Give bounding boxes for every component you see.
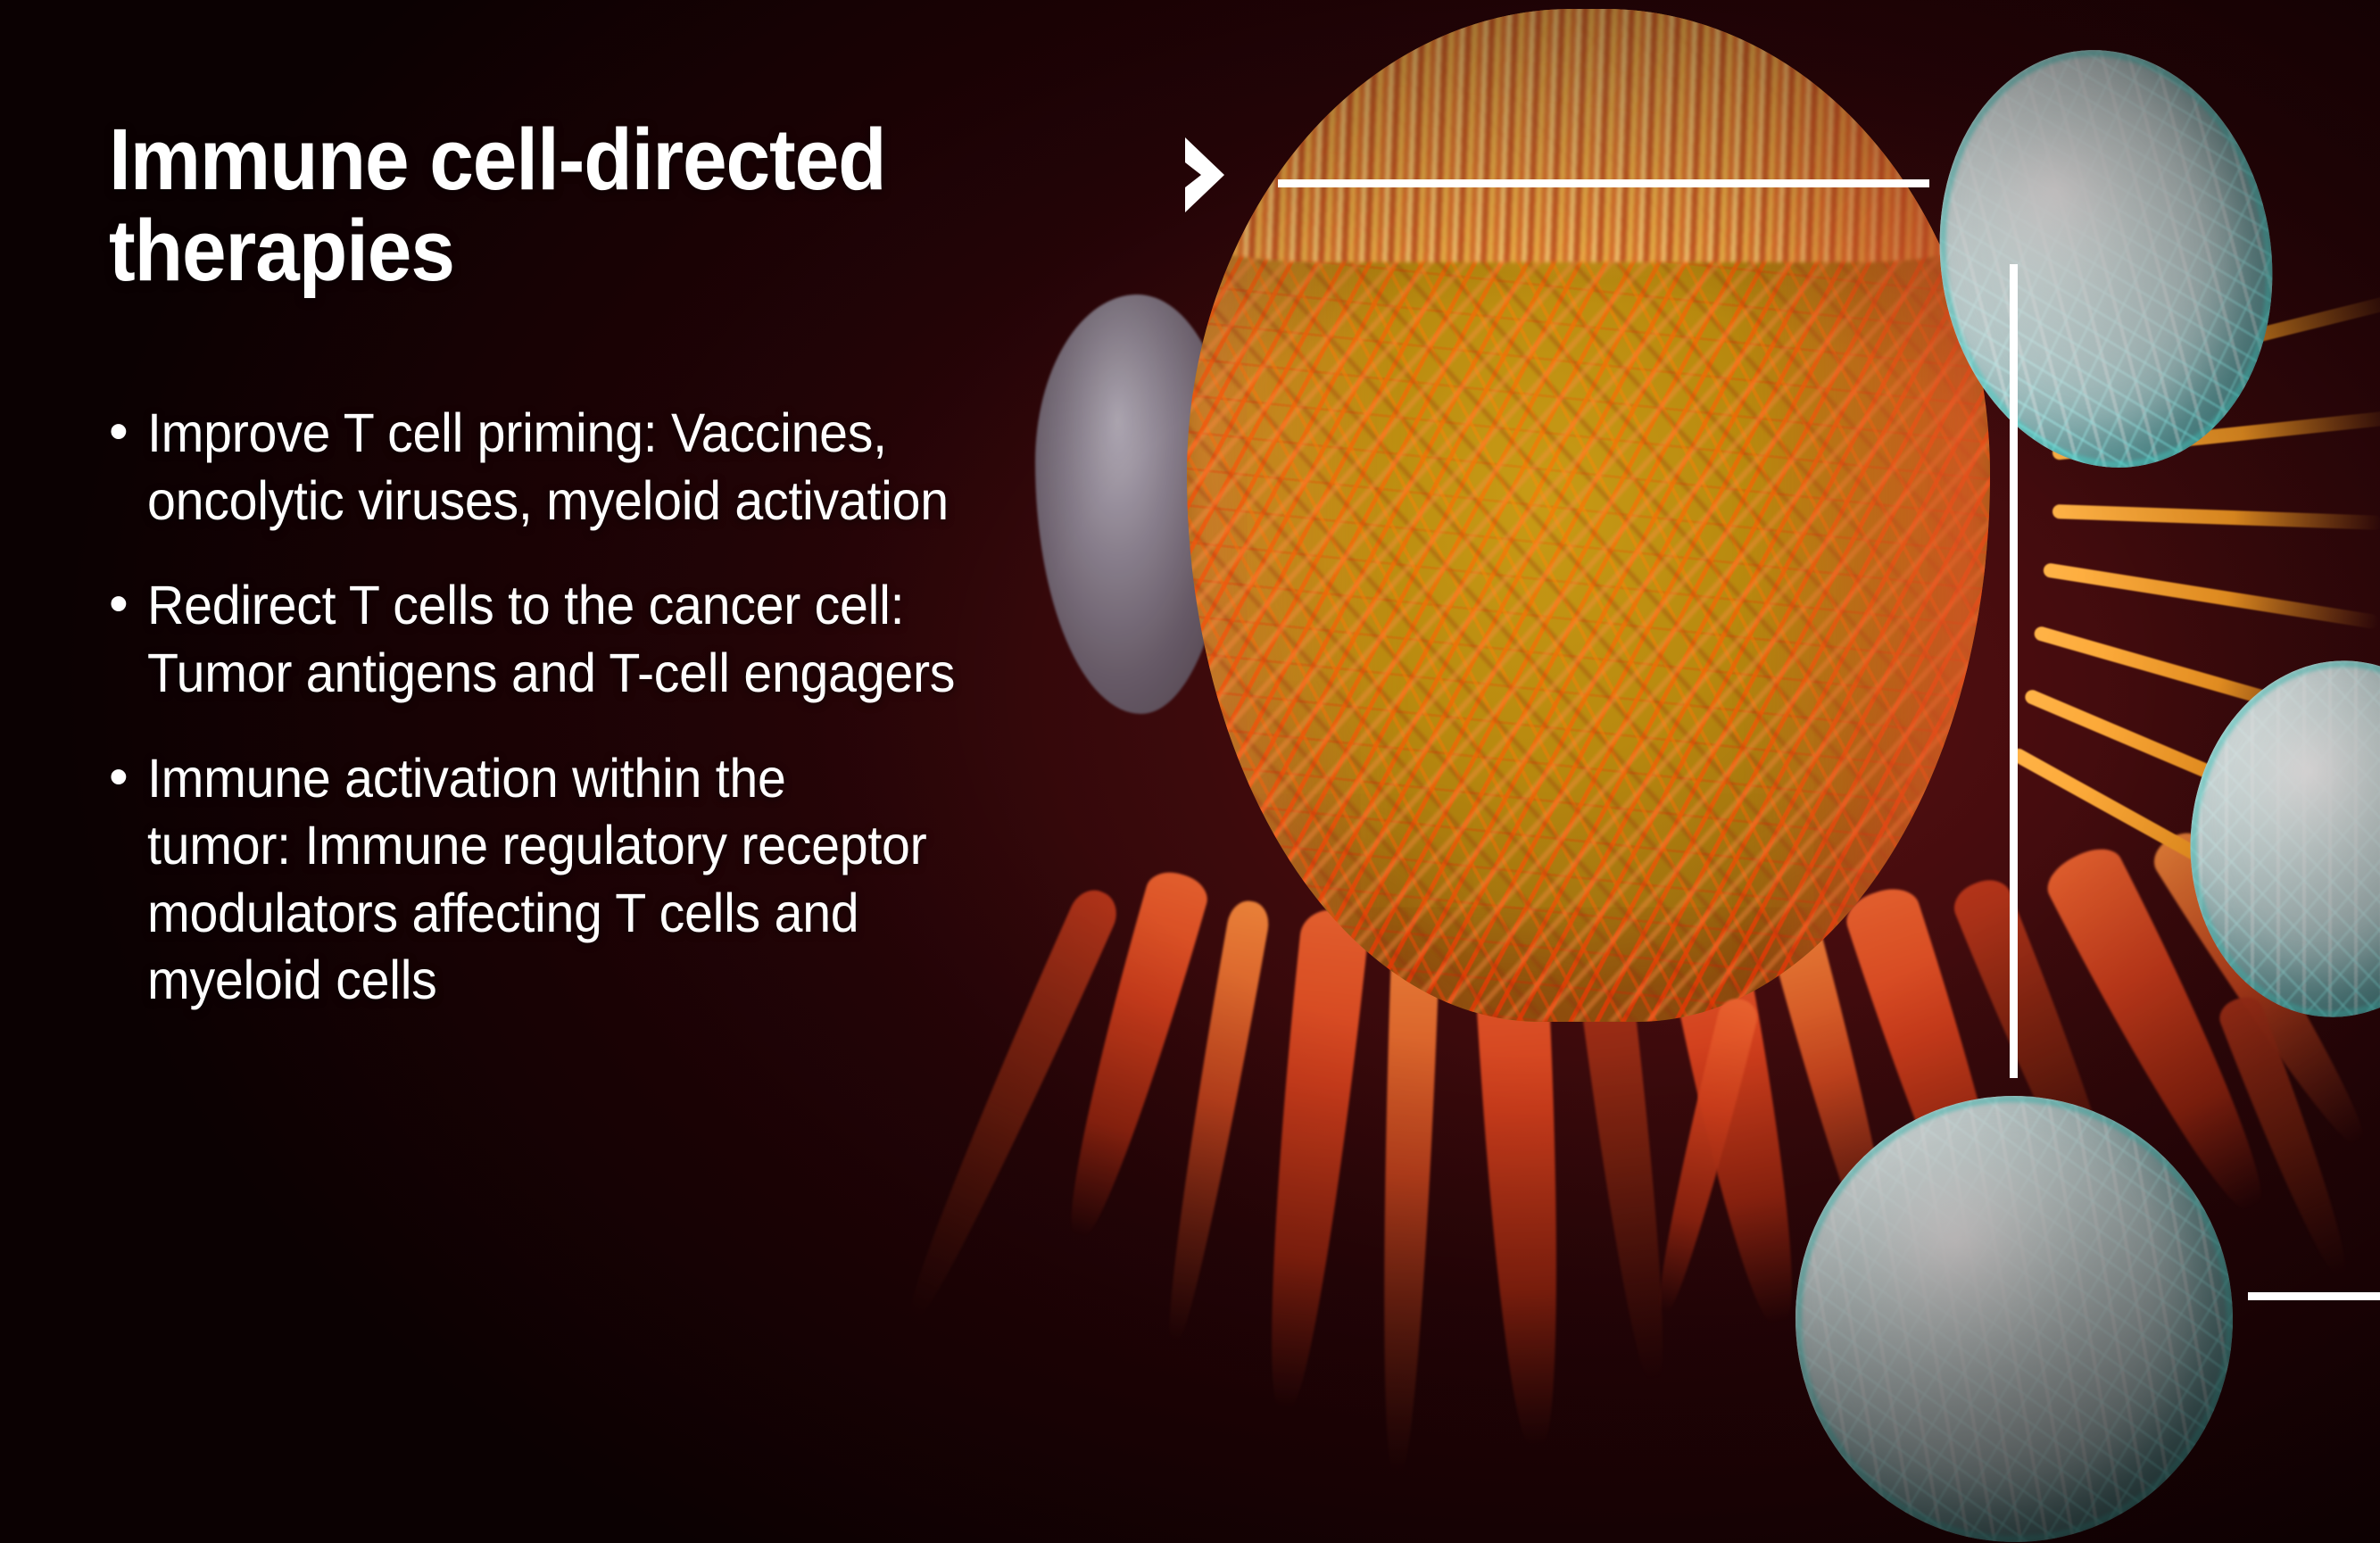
leader-line-top-horizontal [1278, 179, 1929, 187]
bullet-text: Redirect T cells to the cancer cell: Tum… [147, 572, 955, 707]
t-cell-mid-right [2173, 646, 2380, 1032]
t-cell-lower [1780, 1082, 2248, 1543]
bullet-marker: • [109, 570, 147, 639]
list-item: • Immune activation within the tumor: Im… [109, 745, 1305, 1016]
leader-line-vertical [2010, 264, 2018, 1078]
bullet-marker: • [109, 743, 147, 812]
bullet-marker: • [109, 398, 147, 467]
text-panel: Immune cell-directed therapies • Improve… [0, 0, 1365, 1543]
t-cell-upper-right [1911, 26, 2302, 492]
leader-line-bottom-horizontal [2248, 1292, 2380, 1300]
page-title: Immune cell-directed therapies [109, 114, 1135, 296]
slide-root: Immune cell-directed therapies • Improve… [0, 0, 2380, 1543]
bullet-text: Improve T cell priming: Vaccines, oncoly… [147, 400, 949, 535]
page-title-wrap: Immune cell-directed therapies [109, 114, 1224, 296]
chevron-right-icon[interactable] [1176, 132, 1233, 218]
bullet-list: • Improve T cell priming: Vaccines, onco… [109, 400, 1305, 1015]
list-item: • Redirect T cells to the cancer cell: T… [109, 572, 1305, 707]
list-item: • Improve T cell priming: Vaccines, onco… [109, 400, 1305, 535]
bullet-text: Immune activation within the tumor: Immu… [147, 745, 926, 1016]
